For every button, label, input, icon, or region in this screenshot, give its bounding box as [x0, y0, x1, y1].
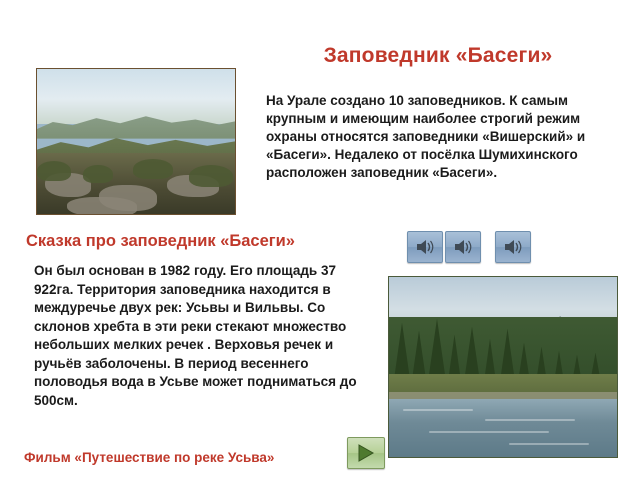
section-subtitle: Сказка про заповедник «Басеги» [26, 232, 295, 251]
play-button[interactable] [347, 437, 385, 469]
photo-bush [133, 159, 173, 179]
photo-river-forest [388, 276, 618, 458]
sound-button-3[interactable] [495, 231, 531, 263]
photo-water-shine [485, 419, 575, 421]
photo-bush [37, 161, 71, 181]
photo-mountain-tundra [36, 68, 236, 215]
photo-water-layer [389, 399, 617, 457]
photo-bush [189, 165, 233, 187]
slide-root: Заповедник «Басеги» На Урале создано 10 … [0, 0, 640, 480]
sound-button-1[interactable] [407, 231, 443, 263]
intro-paragraph: На Урале создано 10 заповедников. К самы… [266, 92, 616, 182]
photo-water-shine [403, 409, 473, 411]
film-caption: Фильм «Путешествие по реке Усьва» [24, 450, 274, 465]
photo-sky-layer [37, 69, 235, 124]
body-paragraph: Он был основан в 1982 году. Его площадь … [34, 262, 364, 410]
photo-water-shine [509, 443, 589, 445]
page-title: Заповедник «Басеги» [248, 44, 628, 68]
photo-bush [83, 165, 113, 183]
sound-button-2[interactable] [445, 231, 481, 263]
photo-rock [67, 197, 137, 215]
photo-water-shine [429, 431, 549, 433]
